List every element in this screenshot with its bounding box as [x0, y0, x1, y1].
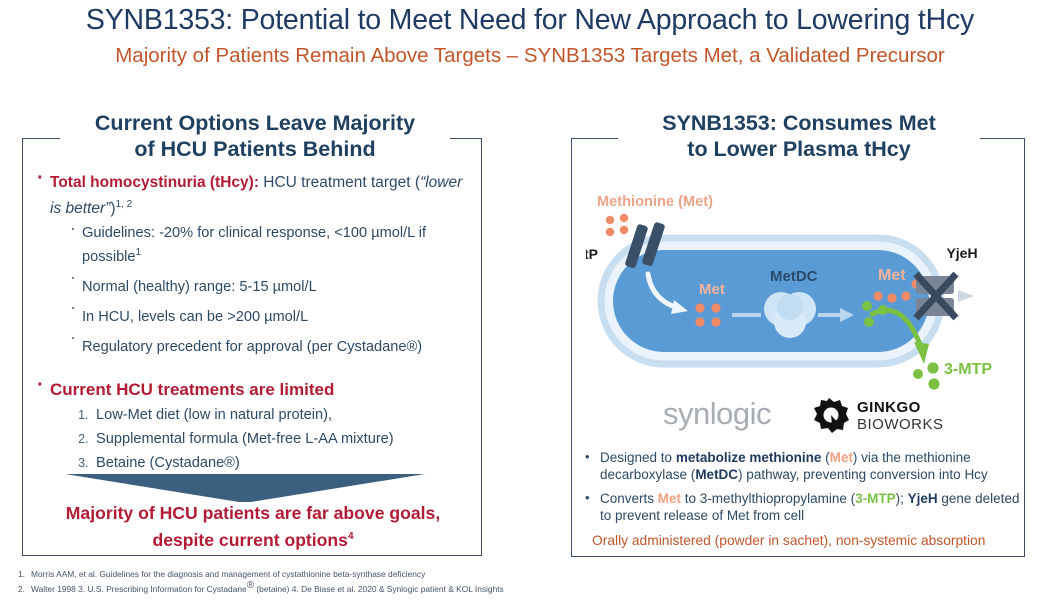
list-item: Low-Met diet (low in natural protein), — [92, 406, 474, 425]
right-panel-bullets: Designed to metabolize methionine (Met) … — [583, 450, 1023, 549]
bullet1-text-a: HCU treatment target ( — [259, 174, 420, 191]
rb2-mid2: ); — [896, 491, 908, 506]
rb1-post: ) pathway, preventing conversion into Hc… — [738, 467, 988, 482]
bullet-total-homocystinuria: Total homocystinuria (tHcy): HCU treatme… — [36, 172, 474, 219]
extracellular-met-dots — [606, 214, 628, 236]
met-right-label: Met — [878, 267, 906, 284]
sub-bullet-text: Normal (healthy) range: 5-15 µmol/L — [82, 279, 317, 295]
conclusion-line2-text: despite current options — [152, 530, 348, 550]
right-panel-heading: SYNB1353: Consumes Met to Lower Plasma t… — [618, 110, 980, 162]
bullet1-superscript: 1, 2 — [115, 199, 132, 210]
slide-subtitle: Majority of Patients Remain Above Target… — [0, 44, 1060, 68]
slide-title: SYNB1353: Potential to Meet Need for New… — [0, 4, 1060, 37]
sub-bullet-list: Guidelines: -20% for clinical response, … — [36, 224, 474, 356]
partner-logos: synlogic GINKGO BIOWORKS — [663, 392, 953, 436]
footnote-1-number: 1. — [18, 568, 31, 580]
treatment-numbered-list: Low-Met diet (low in natural protein), S… — [36, 406, 474, 473]
right-heading-line2: to Lower Plasma tHcy — [628, 136, 970, 162]
sub-bullet-text: Regulatory precedent for approval (per C… — [82, 339, 422, 355]
conclusion-line2: despite current options4 — [36, 525, 470, 552]
rb2-mid1: to 3-methylthiopropylamine ( — [681, 491, 855, 506]
rb2-mtp: 3-MTP — [855, 491, 896, 506]
rb2-bold1: YjeH — [908, 491, 938, 506]
list-item: Supplemental formula (Met-free L-AA mixt… — [92, 430, 474, 449]
rb1-bold1: metabolize methionine — [676, 450, 822, 465]
list-item: In HCU, levels can be >200 µmol/L — [70, 303, 474, 327]
metp-label: MetP — [586, 246, 598, 262]
right-bullet-2: Converts Met to 3-methylthiopropylamine … — [583, 491, 1023, 524]
left-panel-body: Total homocystinuria (tHcy): HCU treatme… — [36, 172, 474, 478]
footnote-2-text-a: Walter 1998 3. U.S. Prescribing Informat… — [31, 584, 247, 594]
bullet-current-treatments: Current HCU treatments are limited — [36, 379, 474, 401]
bullet1-highlight: Total homocystinuria (tHcy): — [50, 174, 259, 191]
left-heading-line2: of HCU Patients Behind — [70, 136, 440, 162]
rb1-pre: Designed to — [600, 450, 676, 465]
footnote-2-superscript: ® — [247, 580, 254, 591]
mtp-label: 3-MTP — [944, 361, 992, 378]
sub-bullet-superscript: 1 — [136, 247, 142, 258]
oral-administration-note: Orally administered (powder in sachet), … — [583, 532, 1023, 549]
left-panel-conclusion: Majority of HCU patients are far above g… — [36, 502, 470, 552]
extracellular-mtp-dots — [913, 362, 940, 389]
yjeh-label: YjeH — [946, 245, 977, 261]
list-item: Regulatory precedent for approval (per C… — [70, 333, 474, 357]
conclusion-superscript: 4 — [348, 531, 354, 542]
rb2-met: Met — [658, 491, 681, 506]
bullet2-highlight: Current HCU treatments are limited — [50, 380, 334, 399]
footnote-line-1: 1.Morris AAM, et al. Guidelines for the … — [18, 568, 658, 580]
bacterial-cell-diagram: MetP Met MetDC Met — [586, 214, 1016, 394]
footnote-line-2: 2.Walter 1998 3. U.S. Prescribing Inform… — [18, 580, 658, 595]
left-panel-heading: Current Options Leave Majority of HCU Pa… — [60, 110, 450, 162]
sub-bullet-text: Guidelines: -20% for clinical response, … — [82, 225, 426, 265]
footnote-2-number: 2. — [18, 583, 31, 595]
conclusion-line1: Majority of HCU patients are far above g… — [36, 502, 470, 525]
down-chevron-icon — [65, 474, 425, 502]
ginkgo-label-line2: BIOWORKS — [857, 416, 944, 433]
methionine-label: Methionine (Met) — [597, 194, 713, 210]
ginkgo-gear-icon — [814, 398, 849, 433]
rb1-mid1: ( — [821, 450, 829, 465]
rb1-bold2: MetDC — [695, 467, 738, 482]
met-inside-label: Met — [699, 281, 725, 298]
sub-bullet-text: In HCU, levels can be >200 µmol/L — [82, 309, 308, 325]
rb2-pre: Converts — [600, 491, 658, 506]
right-bullet-1: Designed to metabolize methionine (Met) … — [583, 450, 1023, 483]
rb1-met: Met — [830, 450, 853, 465]
metdc-label: MetDC — [770, 268, 818, 285]
list-item: Normal (healthy) range: 5-15 µmol/L — [70, 273, 474, 297]
footnote-2-text-b: (betaine) 4. De Biase et al. 2020 & Synl… — [254, 584, 504, 594]
synlogic-logo: synlogic — [663, 396, 771, 431]
right-heading-line1: SYNB1353: Consumes Met — [628, 110, 970, 136]
list-item: Betaine (Cystadane®) — [92, 454, 474, 473]
list-item: Guidelines: -20% for clinical response, … — [70, 224, 474, 267]
footnotes: 1.Morris AAM, et al. Guidelines for the … — [18, 568, 658, 596]
footnote-1-text: Morris AAM, et al. Guidelines for the di… — [31, 569, 425, 579]
ginkgo-label-line1: GINKGO — [857, 399, 921, 416]
left-heading-line1: Current Options Leave Majority — [70, 110, 440, 136]
